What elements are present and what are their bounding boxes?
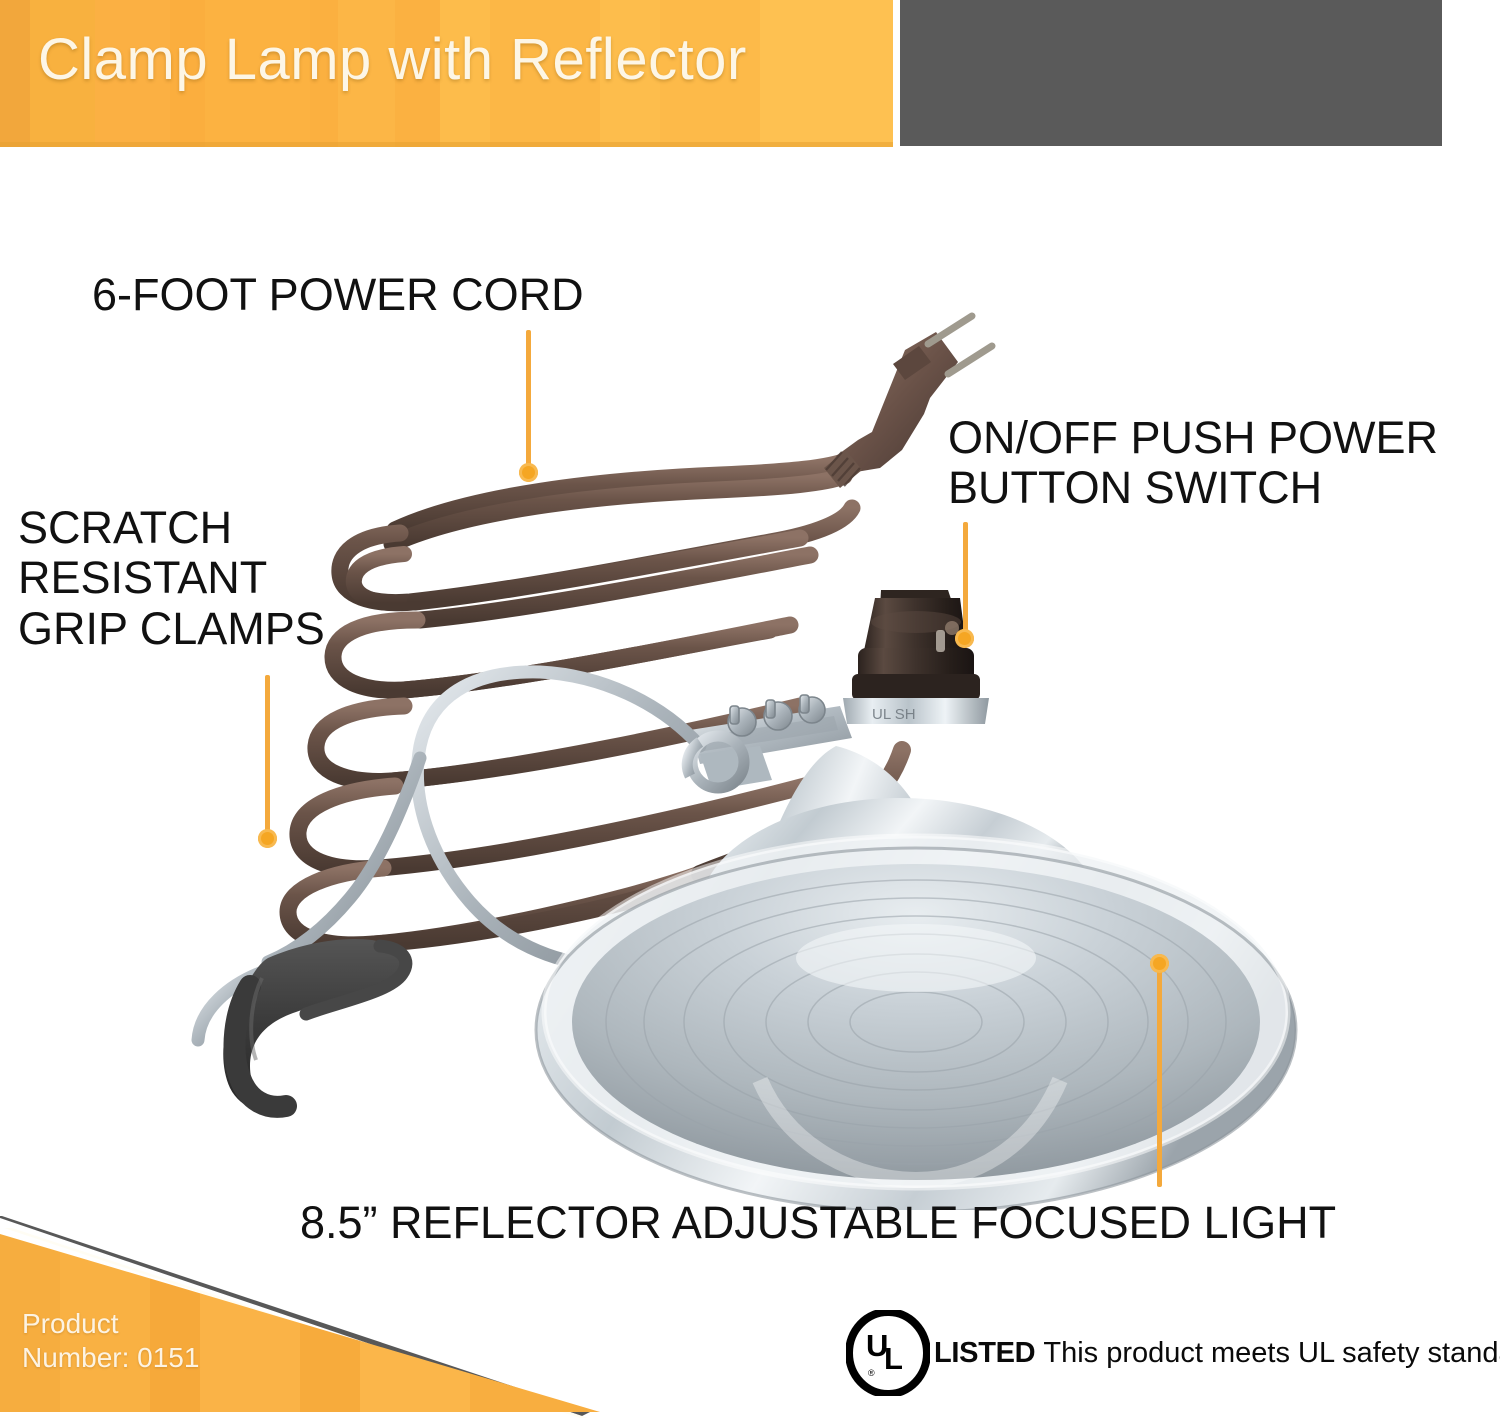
callout-label-grip-clamps-line3: GRIP CLAMPS <box>18 604 388 654</box>
svg-text:®: ® <box>868 1368 875 1378</box>
callout-dot-power-switch <box>955 629 974 648</box>
callout-label-reflector: 8.5” REFLECTOR ADJUSTABLE FOCUSED LIGHT <box>300 1198 1336 1248</box>
ul-statement: LISTED This product meets UL safety stan… <box>934 1337 1500 1370</box>
callout-label-power-switch: ON/OFF PUSH POWER BUTTON SWITCH <box>948 413 1468 514</box>
header-features-banner: FEATURES <box>900 0 1442 146</box>
leader-line-power-switch <box>963 522 968 637</box>
svg-text:L: L <box>884 1341 903 1376</box>
callout-dot-reflector <box>1150 954 1169 973</box>
leader-line-power-cord <box>526 330 531 467</box>
ul-statement-body: This product meets UL safety standards <box>1043 1337 1500 1369</box>
callout-dot-power-cord <box>519 463 538 482</box>
header-orange-banner: Clamp Lamp with Reflector <box>0 0 893 147</box>
callout-dot-grip-clamps <box>258 829 277 848</box>
callout-label-grip-clamps-line1: SCRATCH <box>18 503 388 553</box>
ul-logo-icon: U L ® <box>846 1310 930 1396</box>
page-title: Clamp Lamp with Reflector <box>38 26 747 93</box>
callout-label-grip-clamps-line2: RESISTANT <box>18 553 388 603</box>
callout-label-power-switch-line1: ON/OFF PUSH POWER <box>948 413 1468 463</box>
leader-line-grip-clamps <box>265 675 270 833</box>
product-number-line1: Product <box>22 1307 199 1341</box>
product-number-line2: Number: 0151 <box>22 1341 199 1375</box>
callout-label-grip-clamps: SCRATCH RESISTANT GRIP CLAMPS <box>18 503 388 654</box>
clamp-grips-graphic <box>223 939 406 1111</box>
leader-line-reflector <box>1157 965 1162 1187</box>
callout-label-power-switch-line2: BUTTON SWITCH <box>948 463 1468 513</box>
ul-listed-label: LISTED <box>934 1337 1035 1369</box>
product-number: Product Number: 0151 <box>22 1307 199 1375</box>
ul-certification: U L ® LISTED This product meets UL safet… <box>846 1310 1500 1396</box>
callout-label-power-cord: 6-FOOT POWER CORD <box>92 270 584 320</box>
svg-text:UL SH: UL SH <box>872 706 916 723</box>
